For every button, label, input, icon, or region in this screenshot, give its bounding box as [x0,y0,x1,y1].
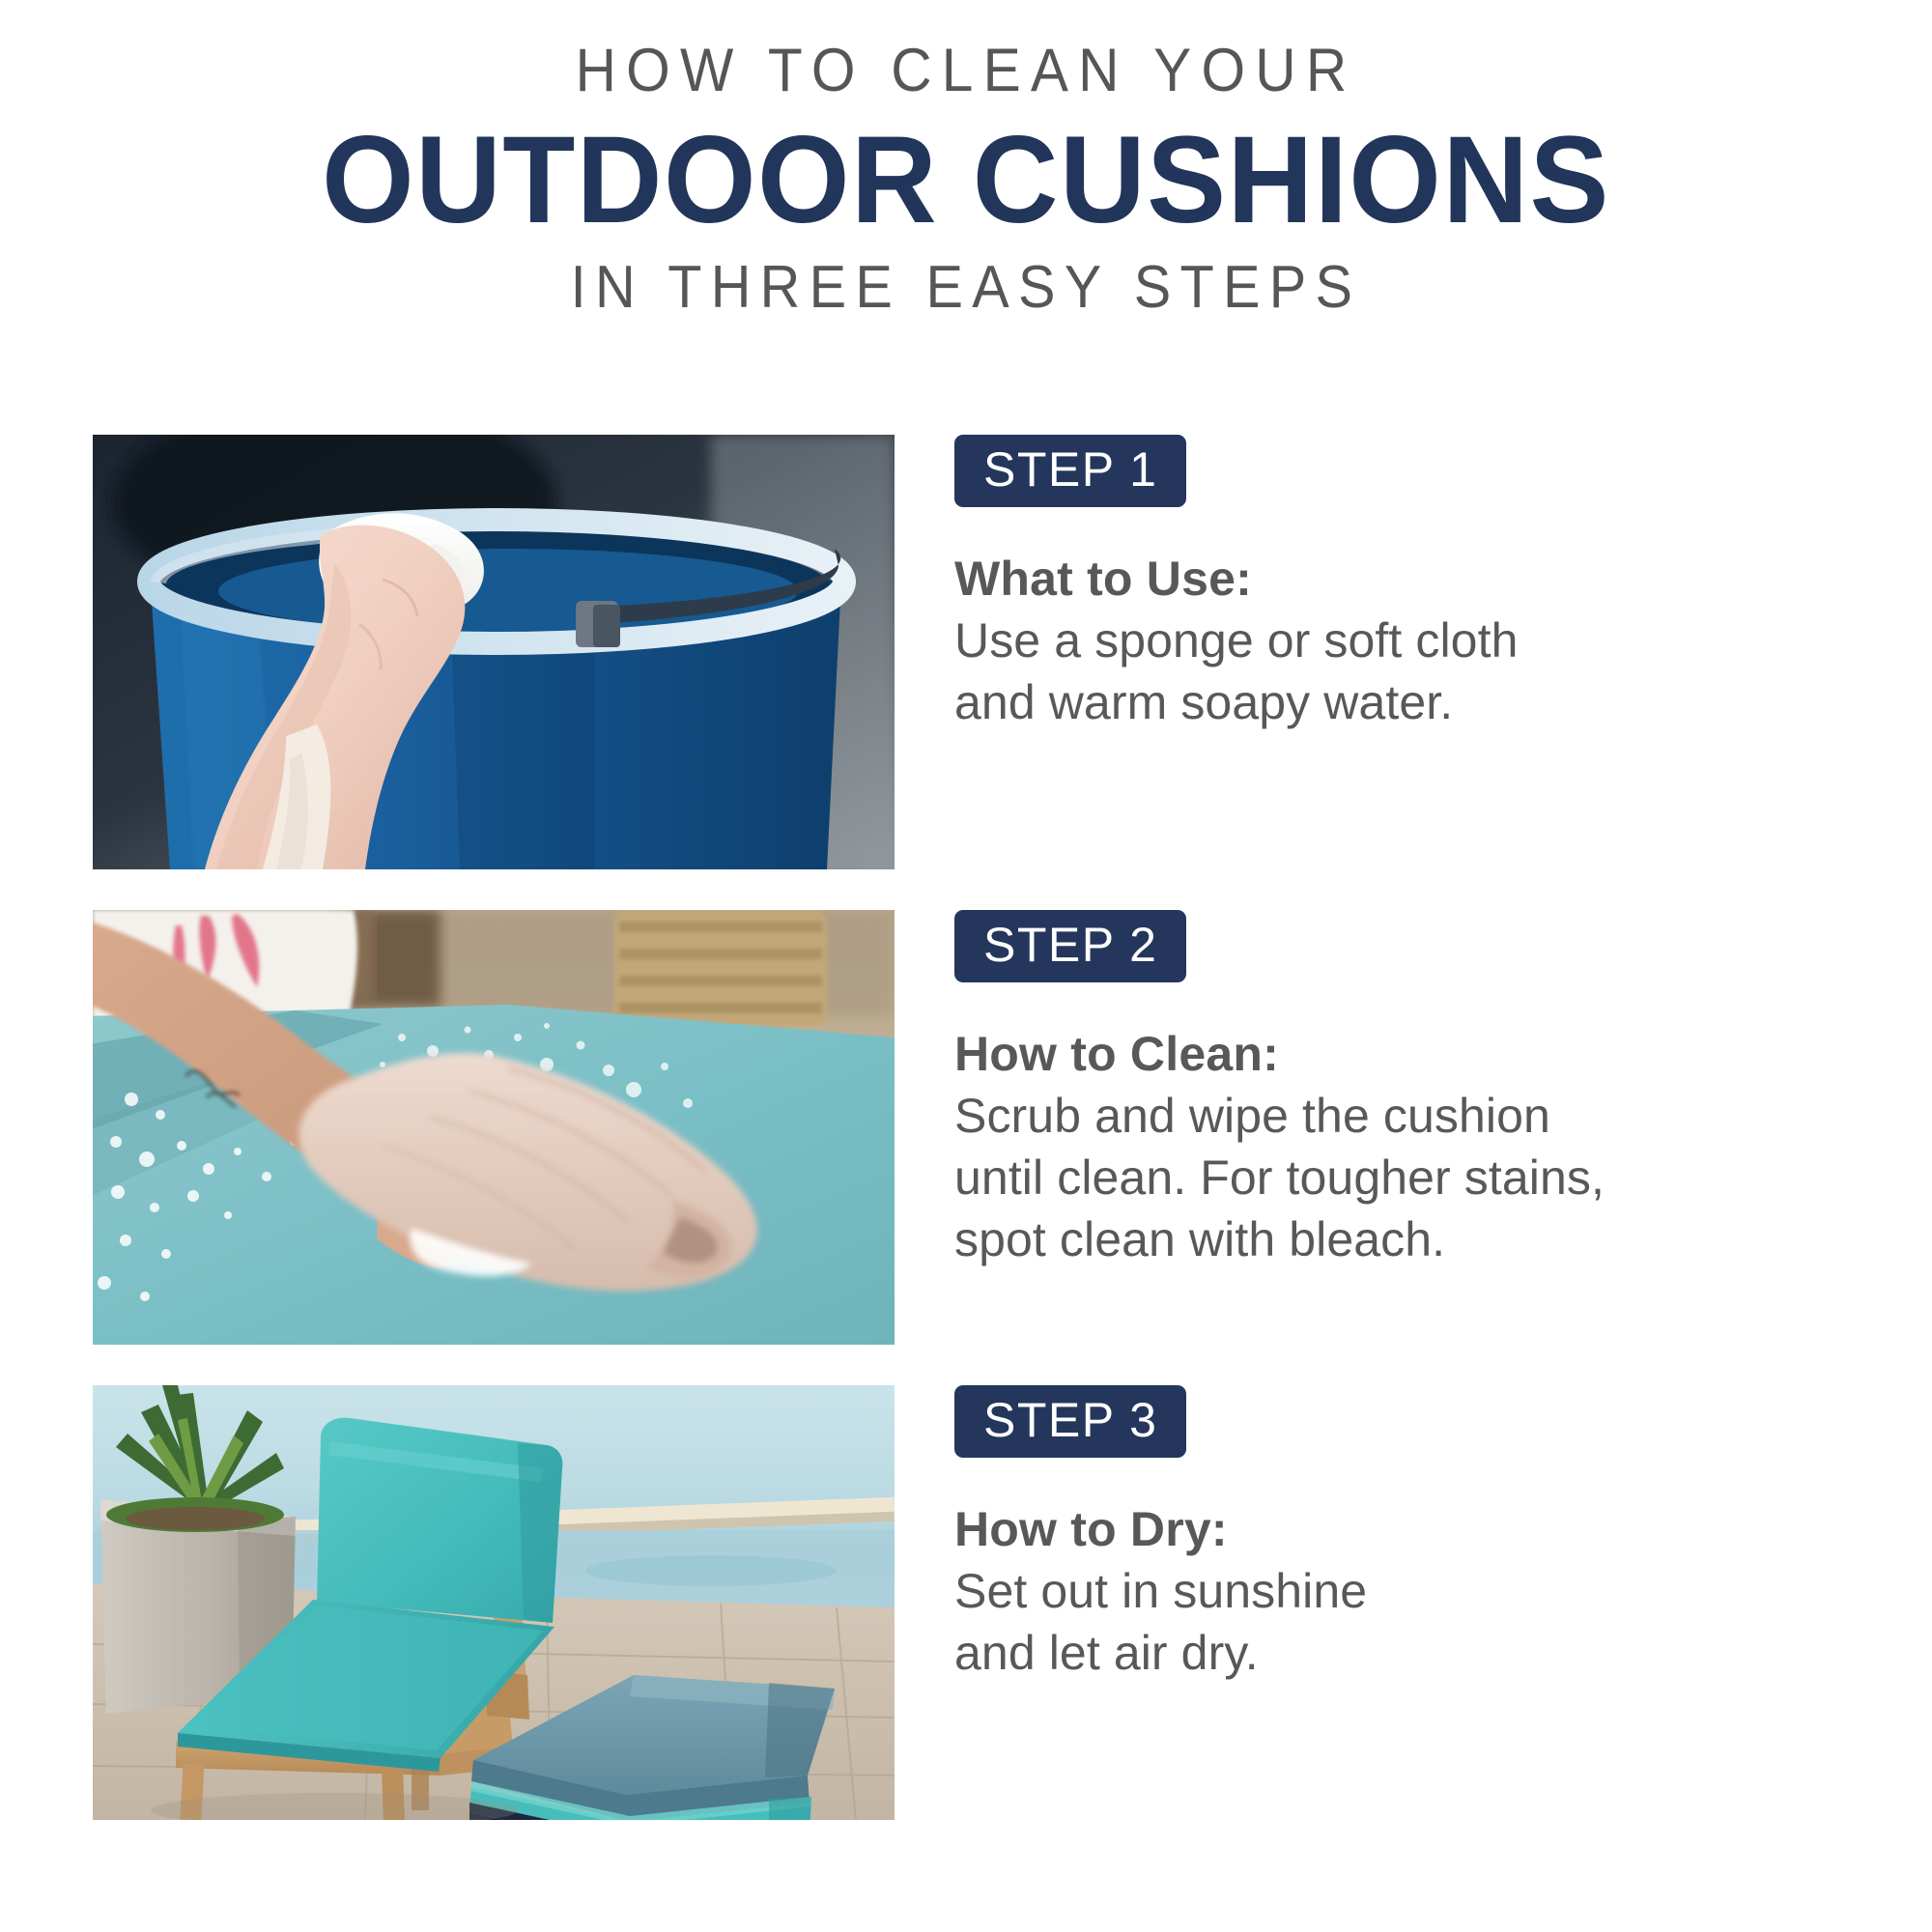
steps-list: STEP 1 What to Use: Use a sponge or soft… [0,435,1932,1861]
step-3-photo [93,1385,895,1820]
step-row: STEP 2 How to Clean: Scrub and wipe the … [0,910,1932,1345]
step-2-badge: STEP 2 [954,910,1186,982]
page-title: OUTDOOR CUSHIONS [39,119,1893,242]
header-subline: IN THREE EASY STEPS [68,258,1864,318]
step-1-body: Use a sponge or soft cloth and warm soap… [954,610,1862,733]
step-2-body: Scrub and wipe the cushion until clean. … [954,1085,1862,1270]
step-3-text: STEP 3 How to Dry: Set out in sunshine a… [954,1385,1862,1684]
step-2-photo [93,910,895,1345]
step-row: STEP 3 How to Dry: Set out in sunshine a… [0,1385,1932,1820]
step-2-text: STEP 2 How to Clean: Scrub and wipe the … [954,910,1862,1270]
step-1-text: STEP 1 What to Use: Use a sponge or soft… [954,435,1862,733]
page-header: HOW TO CLEAN YOUR OUTDOOR CUSHIONS IN TH… [0,0,1932,318]
step-1-badge: STEP 1 [954,435,1186,507]
header-kicker: HOW TO CLEAN YOUR [68,41,1864,101]
step-3-heading: How to Dry: [954,1502,1862,1556]
step-3-badge: STEP 3 [954,1385,1186,1458]
step-1-heading: What to Use: [954,552,1862,606]
step-2-heading: How to Clean: [954,1027,1862,1081]
step-1-photo [93,435,895,869]
step-3-body: Set out in sunshine and let air dry. [954,1560,1862,1684]
step-row: STEP 1 What to Use: Use a sponge or soft… [0,435,1932,869]
